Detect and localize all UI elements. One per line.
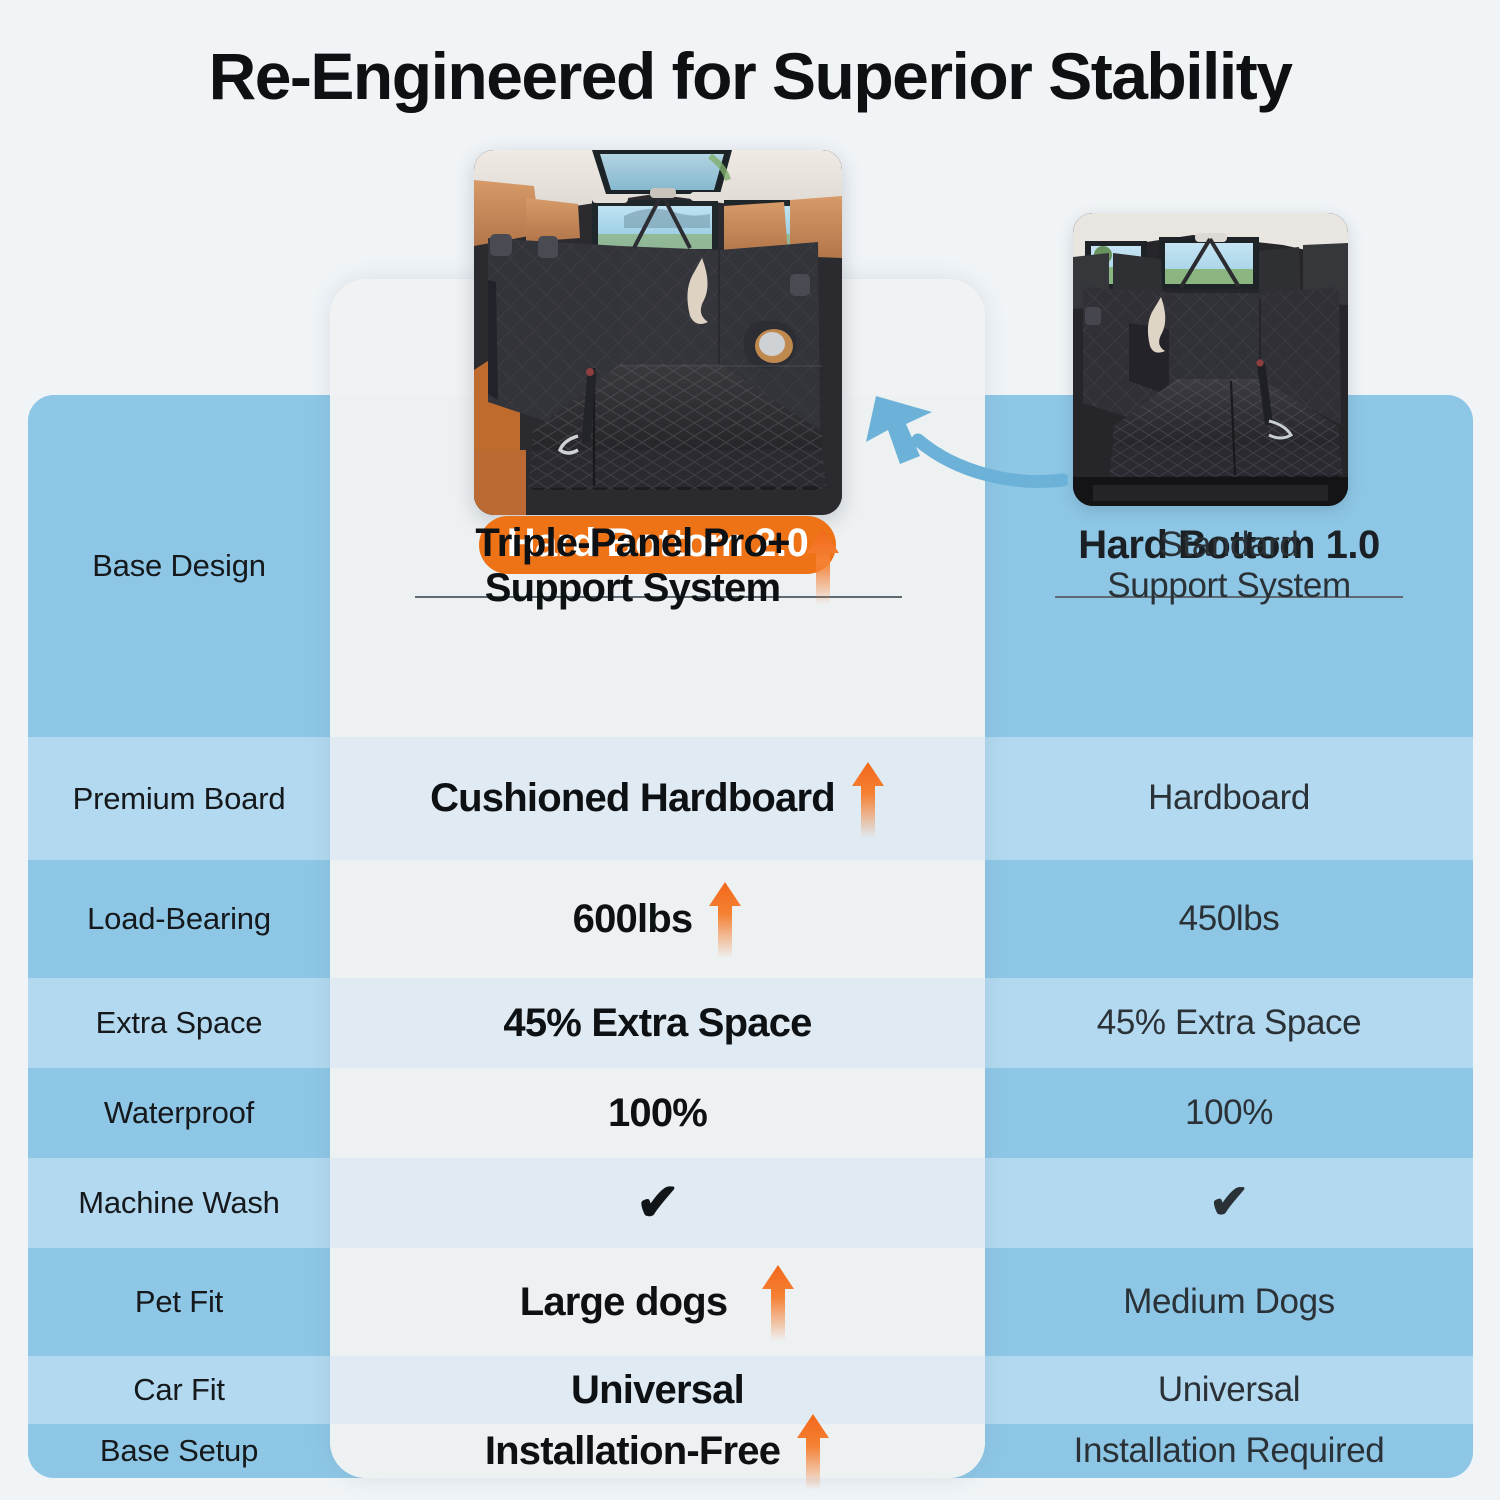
cell-hard-bottom-2: Cushioned Hardboard bbox=[330, 737, 985, 860]
row-label: Car Fit bbox=[28, 1356, 330, 1424]
checkmark-icon: ✔ bbox=[1209, 1179, 1249, 1227]
cell-hard-bottom-1: Installation Required bbox=[985, 1424, 1473, 1478]
cell-value: Installation-Free bbox=[485, 1429, 780, 1474]
cell-value: Hardboard bbox=[1148, 778, 1310, 819]
cell-hard-bottom-1: Universal bbox=[985, 1356, 1473, 1424]
cell-value: Triple-Panel Pro+ Support System bbox=[475, 521, 789, 611]
row-label: Load-Bearing bbox=[28, 860, 330, 978]
cell-value: Installation Required bbox=[1074, 1431, 1385, 1472]
table-row: Base DesignTriple-Panel Pro+ Support Sys… bbox=[28, 395, 1473, 737]
checkmark-icon: ✔ bbox=[636, 1177, 679, 1229]
cell-value: Universal bbox=[571, 1368, 744, 1413]
cell-hard-bottom-1: ✔ bbox=[985, 1158, 1473, 1248]
cell-hard-bottom-2: Installation-Free bbox=[330, 1424, 985, 1478]
row-label: Premium Board bbox=[28, 737, 330, 860]
table-row: Waterproof100%100% bbox=[28, 1068, 1473, 1158]
cell-value: Universal bbox=[1158, 1370, 1300, 1411]
comparison-table: Base DesignTriple-Panel Pro+ Support Sys… bbox=[28, 395, 1473, 1478]
table-row: Load-Bearing600lbs 450lbs bbox=[28, 860, 1473, 978]
cell-hard-bottom-2: ✔ bbox=[330, 1158, 985, 1248]
orange-up-arrow-icon bbox=[796, 1412, 830, 1490]
cell-value: Standard Support System bbox=[1107, 525, 1350, 606]
cell-value: 100% bbox=[1185, 1093, 1273, 1134]
cell-hard-bottom-2: Large dogs bbox=[330, 1248, 985, 1356]
cell-hard-bottom-1: Medium Dogs bbox=[985, 1248, 1473, 1356]
cell-value: Cushioned Hardboard bbox=[430, 776, 835, 821]
table-row: Base SetupInstallation-Free Installation… bbox=[28, 1424, 1473, 1478]
cell-hard-bottom-1: Standard Support System bbox=[985, 395, 1473, 737]
row-label: Base Design bbox=[28, 395, 330, 737]
cell-value: Large dogs bbox=[520, 1280, 728, 1325]
cell-hard-bottom-1: 100% bbox=[985, 1068, 1473, 1158]
table-row: Premium BoardCushioned Hardboard Hardboa… bbox=[28, 737, 1473, 860]
cell-value: 450lbs bbox=[1179, 899, 1280, 940]
cell-hard-bottom-2: 600lbs bbox=[330, 860, 985, 978]
cell-hard-bottom-1: 450lbs bbox=[985, 860, 1473, 978]
row-label: Base Setup bbox=[28, 1424, 330, 1478]
cell-value: Medium Dogs bbox=[1123, 1282, 1335, 1323]
page-title: Re-Engineered for Superior Stability bbox=[0, 38, 1500, 114]
orange-up-arrow-icon bbox=[851, 760, 885, 838]
row-label: Pet Fit bbox=[28, 1248, 330, 1356]
row-label: Waterproof bbox=[28, 1068, 330, 1158]
row-label: Extra Space bbox=[28, 978, 330, 1068]
orange-up-arrow-icon bbox=[761, 1263, 795, 1341]
orange-up-arrow-icon bbox=[708, 880, 742, 958]
table-row: Extra Space45% Extra Space45% Extra Spac… bbox=[28, 978, 1473, 1068]
cell-value: 45% Extra Space bbox=[1097, 1003, 1361, 1044]
cell-hard-bottom-2: 45% Extra Space bbox=[330, 978, 985, 1068]
cell-value: 100% bbox=[608, 1091, 707, 1136]
cell-hard-bottom-1: 45% Extra Space bbox=[985, 978, 1473, 1068]
cell-hard-bottom-2: 100% bbox=[330, 1068, 985, 1158]
cell-hard-bottom-1: Hardboard bbox=[985, 737, 1473, 860]
row-label: Machine Wash bbox=[28, 1158, 330, 1248]
cell-value: 600lbs bbox=[573, 897, 693, 942]
table-row: Machine Wash✔✔ bbox=[28, 1158, 1473, 1248]
cell-value: 45% Extra Space bbox=[503, 1001, 811, 1046]
table-row: Pet FitLarge dogs Medium Dogs bbox=[28, 1248, 1473, 1356]
orange-up-arrow-icon bbox=[806, 527, 840, 605]
cell-hard-bottom-2: Triple-Panel Pro+ Support System bbox=[330, 395, 985, 737]
